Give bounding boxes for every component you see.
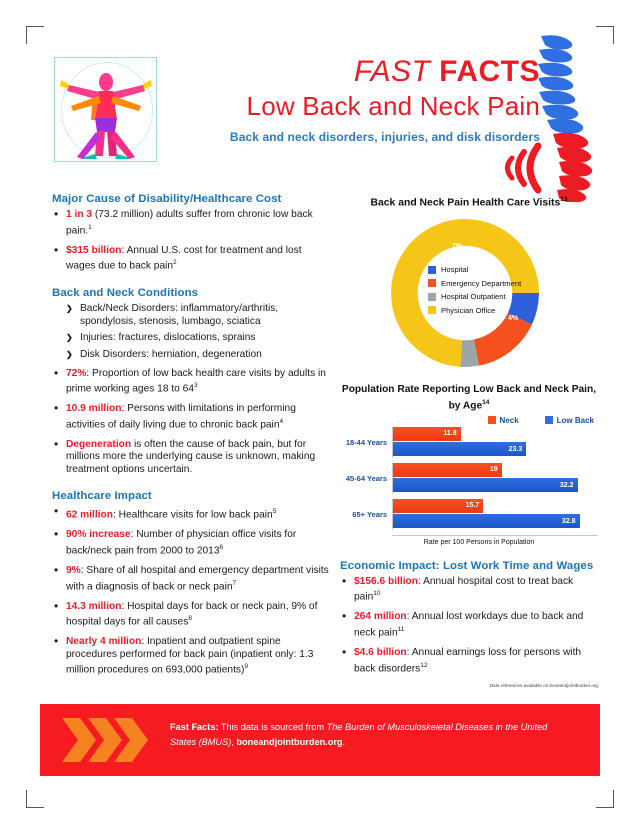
reference-marker: 1 — [88, 224, 92, 231]
legend-label: Emergency Department — [441, 279, 521, 288]
legend-item-hospital-outpatient: Hospital Outpatient — [428, 292, 546, 301]
bar-category-label: 45-64 Years — [340, 474, 392, 483]
footer-text: Fast Facts: This data is sourced from Th… — [170, 720, 570, 750]
section-title-conditions: Back and Neck Conditions — [52, 287, 330, 299]
legend-item-low-back: Low Back — [545, 416, 594, 425]
list-item: Nearly 4 million: Inpatient and outpatie… — [52, 636, 330, 677]
stat-highlight: 10.9 million — [66, 403, 121, 414]
bar-neck-18-44: 11.8 — [393, 427, 461, 441]
reference-marker: 3 — [194, 382, 198, 389]
bar-value: 23.3 — [509, 446, 527, 453]
list-item: 90% increase: Number of physician office… — [52, 529, 330, 558]
list-item: Degeneration is often the cause of back … — [52, 439, 330, 477]
reference-marker: 4 — [280, 418, 284, 425]
stat-text: : Healthcare visits for low back pain — [113, 510, 273, 521]
legend-swatch-physician-office — [428, 306, 436, 314]
stat-highlight: 62 million — [66, 510, 113, 521]
legend-swatch-low-back — [545, 416, 553, 424]
infographic-page: FAST FACTS Low Back and Neck Pain Back a… — [0, 0, 640, 816]
list-item: Disk Disorders: herniation, degeneration — [52, 349, 330, 362]
bar-category-label: 65+ Years — [340, 510, 392, 519]
crop-mark-bottom-right-v — [613, 790, 614, 808]
donut-value-physician-office: 74% — [387, 348, 401, 355]
bar-neck-45-64: 19 — [393, 463, 502, 477]
page-subtitle: Low Back and Neck Pain — [180, 91, 540, 122]
legend-item-emergency-department: Emergency Department — [428, 279, 546, 288]
bar-low-back-45-64: 32.2 — [393, 478, 578, 492]
reference-marker: 11 — [398, 626, 405, 633]
bar-group-45-64: 45-64 Years 19 32.2 — [340, 463, 598, 494]
reference-marker: 6 — [219, 544, 223, 551]
title-fast: FAST — [354, 55, 439, 88]
bar-value: 15.7 — [466, 502, 484, 509]
stat-highlight: 1 in 3 — [66, 209, 92, 220]
footer-lead: Fast Facts: — [170, 722, 219, 732]
legend-swatch-emergency-department — [428, 279, 436, 287]
stat-highlight: $315 billion — [66, 245, 121, 256]
reference-marker: 8 — [188, 615, 192, 622]
list-item: $4.6 billion: Annual earnings loss for p… — [340, 647, 598, 676]
list-item: Back/Neck Disorders: inflammatory/arthri… — [52, 303, 330, 328]
footer-banner: Fast Facts: This data is sourced from Th… — [40, 704, 600, 776]
donut-chart-title: Back and Neck Pain Health Care Visits13 — [340, 193, 598, 209]
donut-title-text: Back and Neck Pain Health Care Visits — [370, 197, 560, 208]
donut-value-hospital: 7% — [452, 243, 462, 250]
bar-group-bars: 11.8 23.3 — [392, 427, 598, 458]
bar-plot-area: 18-44 Years 11.8 23.3 45-64 Years — [340, 427, 598, 546]
legend-label: Hospital Outpatient — [441, 292, 506, 301]
crop-mark-top-left-h — [26, 26, 44, 27]
bar-low-back-65-plus: 32.8 — [393, 514, 580, 528]
legend-swatch-neck — [488, 416, 496, 424]
reference-marker: 2 — [173, 259, 177, 266]
stat-text: (73.2 million) adults suffer from chroni… — [66, 209, 313, 236]
crop-mark-top-left-v — [26, 26, 27, 44]
title-block: FAST FACTS Low Back and Neck Pain Back a… — [180, 55, 540, 144]
list-healthcare-impact: 62 million: Healthcare visits for low ba… — [52, 506, 330, 677]
bar-group-bars: 15.7 32.8 — [392, 499, 598, 530]
section-title-economic-impact: Economic Impact: Lost Work Time and Wage… — [340, 560, 598, 572]
list-item: 1 in 3 (73.2 million) adults suffer from… — [52, 209, 330, 238]
bar-category-label: 18-44 Years — [340, 438, 392, 447]
data-references-note: Data references available on boneandjoin… — [340, 683, 598, 688]
stat-highlight: Degeneration — [66, 439, 131, 450]
bar-group-18-44: 18-44 Years 11.8 23.3 — [340, 427, 598, 458]
list-item: 72%: Proportion of low back health care … — [52, 368, 330, 397]
footer-body-3: . — [343, 737, 346, 747]
stat-highlight: 90% increase — [66, 529, 131, 540]
reference-marker: 5 — [273, 508, 277, 515]
stat-highlight: 72% — [66, 368, 86, 379]
crop-mark-top-right-v — [613, 26, 614, 44]
chevron-arrows-icon — [60, 716, 156, 764]
header: FAST FACTS Low Back and Neck Pain Back a… — [0, 0, 640, 185]
bar-value: 19 — [490, 466, 502, 473]
bar-group-bars: 19 32.2 — [392, 463, 598, 494]
stat-highlight: 264 million — [354, 611, 407, 622]
legend-item-neck: Neck — [488, 416, 519, 425]
vitruvian-figure-logo-icon — [55, 58, 157, 162]
section-title-major-cause: Major Cause of Disability/Healthcare Cos… — [52, 193, 330, 205]
list-item: 62 million: Healthcare visits for low ba… — [52, 506, 330, 522]
donut-legend: Hospital Emergency Department Hospital O… — [428, 265, 546, 319]
list-conditions-stats: 72%: Proportion of low back health care … — [52, 368, 330, 477]
stat-highlight: 9% — [66, 565, 81, 576]
crop-mark-bottom-left-v — [26, 790, 27, 808]
legend-swatch-hospital — [428, 266, 436, 274]
left-column: Major Cause of Disability/Healthcare Cos… — [52, 193, 330, 684]
list-item: $315 billion: Annual U.S. cost for treat… — [52, 245, 330, 274]
bar-group-65-plus: 65+ Years 15.7 32.8 — [340, 499, 598, 530]
donut-plot-area: 7% 15% 4% 74% Hospital Emergency Departm… — [340, 213, 598, 375]
bar-value: 32.2 — [560, 482, 578, 489]
list-item: 264 million: Annual lost workdays due to… — [340, 611, 598, 640]
bar-value: 11.8 — [443, 430, 460, 437]
reference-marker: 9 — [244, 663, 248, 670]
stat-highlight: 14.3 million — [66, 601, 121, 612]
right-column: Back and Neck Pain Health Care Visits13 … — [340, 193, 598, 688]
legend-label: Neck — [500, 416, 519, 425]
pain-waves-icon — [490, 140, 550, 196]
footer-body-1: This data is sourced from — [219, 722, 327, 732]
crop-mark-bottom-left-h — [26, 807, 44, 808]
reference-marker: 14 — [482, 399, 489, 406]
reference-marker: 7 — [233, 580, 237, 587]
reference-marker: 13 — [560, 196, 567, 203]
donut-chart: Back and Neck Pain Health Care Visits13 … — [340, 193, 598, 375]
stat-highlight: $4.6 billion — [354, 647, 407, 658]
bar-title-text: Population Rate Reporting Low Back and N… — [342, 384, 596, 411]
bar-chart-legend: Neck Low Back — [340, 416, 598, 425]
stat-highlight: $156.6 billion — [354, 576, 418, 587]
list-economic-impact: $156.6 billion: Annual hospital cost to … — [340, 576, 598, 676]
reference-marker: 10 — [373, 590, 380, 597]
stat-text: : Share of all hospital and emergency de… — [66, 565, 329, 592]
bar-axis-line — [392, 535, 598, 536]
bar-low-back-18-44: 23.3 — [393, 442, 526, 456]
reference-marker: 12 — [420, 662, 427, 669]
legend-item-hospital: Hospital — [428, 265, 546, 274]
list-item: 14.3 million: Hospital days for back or … — [52, 601, 330, 630]
legend-label: Low Back — [557, 416, 594, 425]
legend-item-physician-office: Physician Office — [428, 306, 546, 315]
list-item: Injuries: fractures, dislocations, sprai… — [52, 332, 330, 345]
list-item: 10.9 million: Persons with limitations i… — [52, 403, 330, 432]
bar-axis-caption: Rate per 100 Persons in Population — [360, 539, 598, 546]
section-title-healthcare-impact: Healthcare Impact — [52, 490, 330, 502]
crop-mark-bottom-right-h — [596, 807, 614, 808]
legend-label: Physician Office — [441, 306, 495, 315]
list-item: 9%: Share of all hospital and emergency … — [52, 565, 330, 594]
bar-neck-65-plus: 15.7 — [393, 499, 483, 513]
list-major-cause: 1 in 3 (73.2 million) adults suffer from… — [52, 209, 330, 273]
footer-url[interactable]: boneandjointburden.org — [236, 737, 342, 747]
bar-chart-title: Population Rate Reporting Low Back and N… — [340, 383, 598, 412]
list-item: $156.6 billion: Annual hospital cost to … — [340, 576, 598, 605]
legend-swatch-hospital-outpatient — [428, 293, 436, 301]
logo-box — [54, 57, 157, 162]
stat-highlight: Nearly 4 million — [66, 636, 141, 647]
legend-label: Hospital — [441, 265, 468, 274]
list-conditions: Back/Neck Disorders: inflammatory/arthri… — [52, 303, 330, 361]
bar-chart: Population Rate Reporting Low Back and N… — [340, 383, 598, 545]
crop-mark-top-right-h — [596, 26, 614, 27]
bar-value: 32.8 — [562, 518, 580, 525]
page-tagline: Back and neck disorders, injuries, and d… — [180, 130, 540, 144]
